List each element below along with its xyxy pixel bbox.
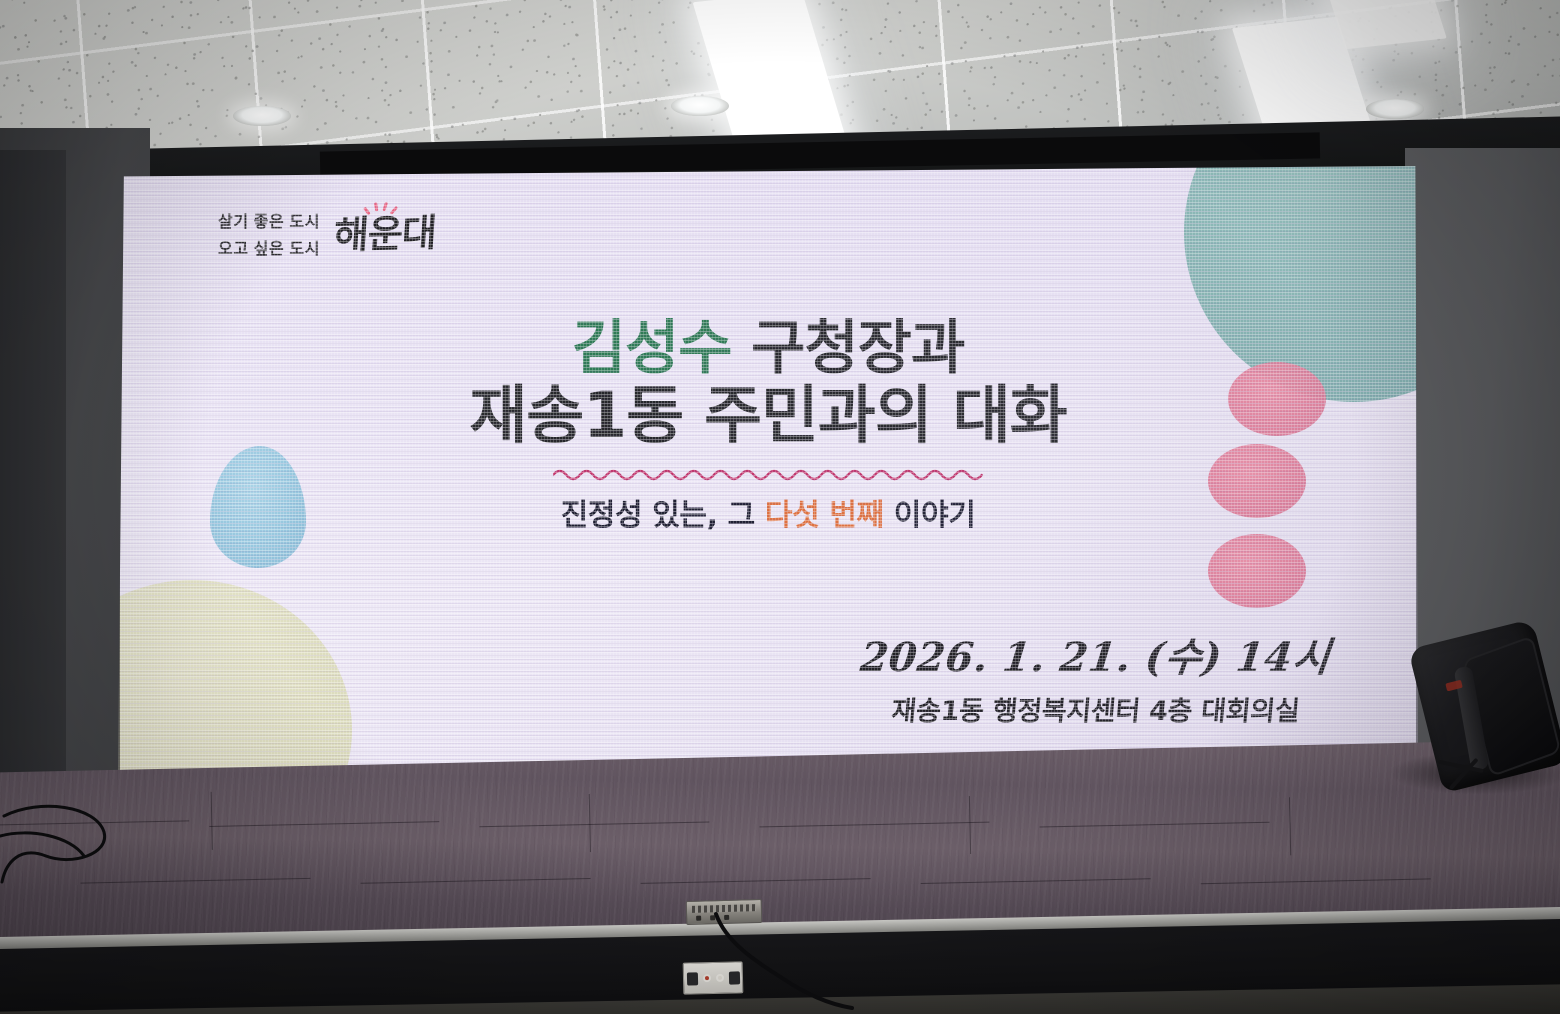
subtitle-suffix: 이야기 bbox=[884, 498, 976, 533]
led-screen-content: 살기 좋은 도시 오고 싶은 도시 해운대 김성수 구청장과 재송1동 주민과의… bbox=[118, 166, 1418, 776]
olive-circle-decoration bbox=[118, 580, 352, 776]
event-info-block: 2026. 1. 21. (수) 14시 재송1동 행정복지센터 4층 대회의실 bbox=[861, 625, 1330, 728]
event-venue: 재송1동 행정복지센터 4층 대회의실 bbox=[859, 689, 1332, 728]
rca-red-jack-icon bbox=[702, 974, 710, 982]
title-person-name: 김성수 bbox=[572, 313, 732, 382]
ceiling-downlight bbox=[671, 96, 729, 116]
title-line-1: 김성수 구청장과 bbox=[118, 316, 1418, 381]
logo-slogan-line2: 오고 싶은 도시 bbox=[218, 235, 320, 259]
av-wall-plate[interactable] bbox=[683, 961, 744, 994]
led-video-wall: 살기 좋은 도시 오고 싶은 도시 해운대 김성수 구청장과 재송1동 주민과의… bbox=[118, 166, 1418, 776]
logo-brand-wordmark: 해운대 bbox=[333, 213, 437, 254]
haeundae-logo: 살기 좋은 도시 오고 싶은 도시 해운대 bbox=[218, 208, 436, 259]
wavy-line-divider bbox=[553, 466, 983, 482]
banner-subtitle: 진정성 있는, 그 다섯 번째 이야기 bbox=[118, 490, 1418, 534]
ceiling-downlight bbox=[233, 106, 291, 126]
title-line-1-rest: 구청장과 bbox=[732, 313, 965, 382]
conference-room: 살기 좋은 도시 오고 싶은 도시 해운대 김성수 구청장과 재송1동 주민과의… bbox=[0, 0, 1560, 1014]
logo-slogan: 살기 좋은 도시 오고 싶은 도시 bbox=[218, 208, 320, 259]
hdmi-port-icon bbox=[728, 971, 739, 984]
banner-title-block: 김성수 구청장과 재송1동 주민과의 대화 진정성 있는, 그 다섯 번째 이야… bbox=[118, 316, 1418, 534]
logo-brand-text: 해운대 bbox=[333, 210, 438, 257]
title-line-2: 재송1동 주민과의 대화 bbox=[118, 381, 1418, 450]
ceiling-downlight bbox=[1366, 99, 1424, 119]
floor-outlet-box[interactable] bbox=[686, 899, 763, 925]
pink-ellipse-decoration bbox=[1208, 534, 1306, 608]
subtitle-highlight: 다섯 번째 bbox=[765, 498, 884, 533]
floor-outlet-ports bbox=[696, 915, 729, 921]
vga-port-icon bbox=[686, 972, 697, 985]
rca-white-jack-icon bbox=[715, 974, 723, 982]
event-datetime: 2026. 1. 21. (수) 14시 bbox=[858, 625, 1334, 683]
logo-slogan-line1: 살기 좋은 도시 bbox=[218, 208, 320, 232]
sparkle-icon bbox=[363, 201, 400, 216]
subtitle-prefix: 진정성 있는, 그 bbox=[561, 498, 765, 533]
